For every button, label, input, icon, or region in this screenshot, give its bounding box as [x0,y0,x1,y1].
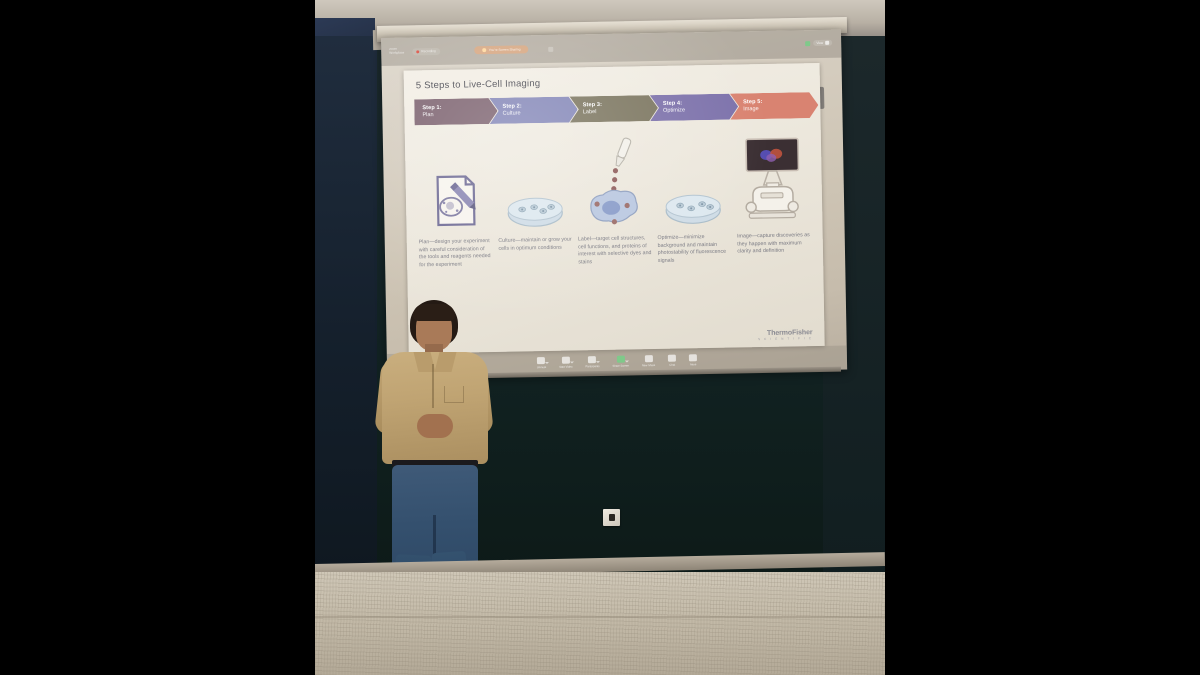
presenter-hair-front [413,304,455,321]
illustration-plan [415,134,496,231]
outlet-port-icon [609,514,615,521]
app-top-right-controls: View [805,40,832,46]
toolbar-new-share-button[interactable]: New Share [642,355,656,367]
brand-tagline: S C I E N T I F I C [758,336,813,341]
shield-icon[interactable] [805,41,810,46]
conference-room-photo: zoom Workplace Recording You're Screen S… [315,0,885,675]
toolbar-button-label: Unmute [537,366,546,369]
screenshot-stage: zoom Workplace Recording You're Screen S… [0,0,1200,675]
recording-indicator[interactable]: Recording [412,47,440,55]
toolbar-button-label: More [690,363,696,366]
illustration-image [732,128,813,225]
slide-title: 5 Steps to Live-Cell Imaging [416,73,810,91]
process-chevron-row: Step 1:PlanStep 2:CultureStep 3:LabelSte… [414,92,810,125]
record-dot-icon [416,50,419,53]
chevron-up-icon[interactable] [625,361,629,363]
document-pencil-icon [429,170,482,231]
pipette-cell-icon [582,137,646,228]
toolbar-button-label: Participants [585,365,599,368]
process-step-3: Step 3:Label [570,95,659,123]
share-screen-icon [617,356,625,363]
ellipsis-icon [689,355,697,362]
chevron-up-icon[interactable] [596,361,600,363]
view-label: View [816,41,823,45]
toolbar-ellipsis-button[interactable]: More [689,355,697,367]
step-description-3: Label—target cell structures, cell funct… [578,235,652,267]
chat-icon [668,355,676,362]
toolbar-button-label: Share Screen [613,364,629,367]
presenter-hands [417,414,453,438]
toolbar-button-label: Start Video [559,365,572,368]
toolbar-people-button[interactable]: Participants [585,356,599,368]
presenter-shirt-placket [432,364,434,408]
people-icon [588,356,596,363]
toolbar-camera-button[interactable]: Start Video [559,357,572,369]
step-name-label: Culture [503,109,578,117]
share-screen-icon [482,48,486,52]
step-description-4: Optimize—minimize background and maintai… [657,234,731,266]
illustration-row [415,128,813,231]
illustration-culture [494,132,575,229]
chevron-down-icon [825,41,829,45]
step-description-5: Image—capture discoveries as they happen… [737,232,811,264]
petri-dish-icon [663,192,724,227]
view-button[interactable]: View [813,40,832,46]
step-name-label: Plan [422,111,497,119]
toolbar-button-label: Chat [669,363,675,366]
microscope-monitor-icon [738,136,806,225]
step-description-2: Culture—maintain or grow your cells in o… [498,237,572,269]
left-wall-column [315,36,377,576]
carpet-seam [315,616,885,618]
step-description-1: Plan—design your experiment with careful… [419,238,493,270]
toolbar-button-label: New Share [642,364,655,367]
stop-share-button[interactable] [548,46,553,51]
microphone-icon [537,357,545,364]
brand-line-2: Workplace [389,52,404,56]
camera-icon [562,357,570,364]
chevron-up-icon[interactable] [545,362,549,364]
wall-outlet [603,509,620,526]
step-name-label: Image [743,105,818,113]
step-description-row: Plan—design your experiment with careful… [417,232,813,270]
screen-share-banner[interactable]: You're Screen Sharing [474,45,529,54]
step-name-label: Optimize [663,106,738,114]
illustration-optimize [652,130,733,227]
carpet-floor [315,572,885,675]
toolbar-microphone-button[interactable]: Unmute [537,357,547,369]
chevron-up-icon[interactable] [570,362,574,364]
toolbar-share-screen-button[interactable]: Share Screen [612,356,629,368]
share-banner-label: You're Screen Sharing [489,47,521,52]
process-step-2: Step 2:Culture [489,96,578,124]
letterbox-left [0,0,315,675]
petri-dish-icon [505,195,566,230]
letterbox-right [885,0,1200,675]
process-step-1: Step 1:Plan [414,98,498,126]
presenter-shirt-pocket [444,386,464,403]
recording-label: Recording [421,49,436,53]
toolbar-chat-button[interactable]: Chat [668,355,676,367]
process-step-4: Step 4:Optimize [650,93,739,121]
thermofisher-logo: ThermoFisher S C I E N T I F I C [758,329,813,341]
new-share-icon [644,355,652,362]
process-step-5: Step 5:Image [730,92,819,120]
illustration-label [573,131,654,228]
app-brand-logo: zoom Workplace [389,48,404,56]
step-name-label: Label [583,108,658,116]
